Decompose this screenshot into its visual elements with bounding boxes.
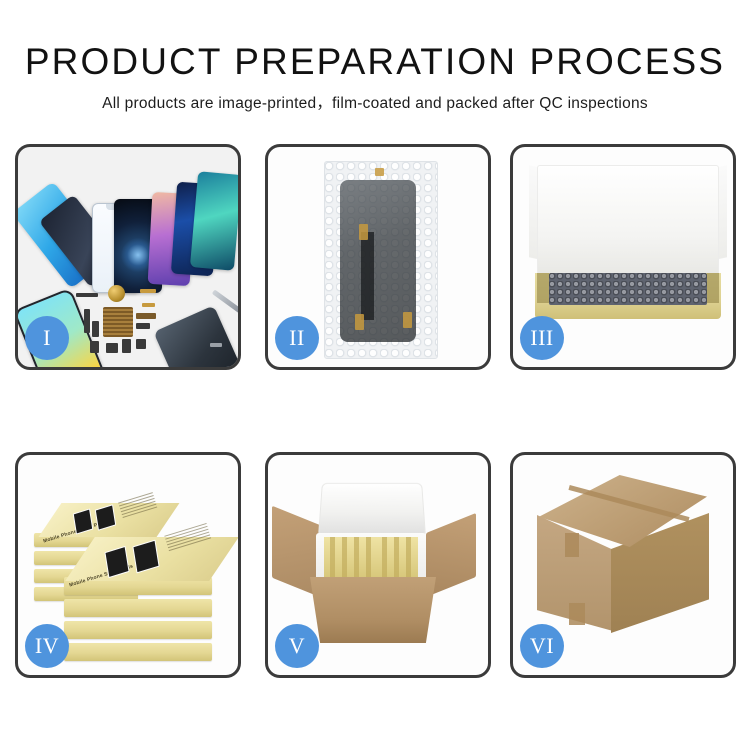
- step-badge-5: V: [275, 624, 319, 668]
- sensor-module: [136, 323, 150, 329]
- step-badge-4: IV: [25, 624, 69, 668]
- tweezers-tool: [210, 343, 222, 347]
- process-step-panel-2[interactable]: II: [265, 144, 491, 370]
- vibrator-motor: [106, 343, 118, 353]
- speaker-component: [108, 285, 125, 302]
- phone-back-housing: [153, 305, 238, 367]
- box-tab-right: [707, 273, 719, 303]
- flex-cable-left: [84, 309, 90, 333]
- box-stack: Mobile Phone Spare Parts Mobile Phone Sp…: [28, 481, 238, 651]
- process-step-panel-4[interactable]: Mobile Phone Spare Parts Mobile Phone Sp…: [15, 452, 241, 678]
- gold-connector: [142, 303, 155, 307]
- gold-connector-bottom-right: [403, 312, 412, 328]
- gold-connector-bottom-left: [355, 314, 364, 330]
- process-step-panel-1[interactable]: I: [15, 144, 241, 370]
- process-step-panel-6[interactable]: VI: [510, 452, 736, 678]
- tape-tab: [375, 168, 384, 176]
- yellow-boxes-inside: [324, 537, 418, 577]
- bubble-wrap-bag: [324, 161, 438, 359]
- step-badge-6: VI: [520, 624, 564, 668]
- gold-connector-top: [359, 224, 368, 240]
- charging-port: [122, 339, 131, 353]
- bubble-wrapped-contents: [549, 273, 707, 305]
- flex-cable-inside: [361, 232, 374, 320]
- process-step-panel-3[interactable]: III: [510, 144, 736, 370]
- screw-pack: [136, 339, 146, 349]
- stack-box-fr-2: [64, 599, 212, 617]
- step-badge-3: III: [520, 316, 564, 360]
- logic-board-component: [103, 307, 133, 337]
- small-bracket: [92, 321, 99, 337]
- carton-tape-lower: [569, 603, 585, 625]
- process-step-panel-5[interactable]: V: [265, 452, 491, 678]
- box-tab-left: [537, 273, 549, 303]
- step-badge-1: I: [25, 316, 69, 360]
- stack-box-fr-4: [64, 643, 212, 661]
- carton-body: [310, 577, 436, 643]
- sim-tray: [90, 341, 99, 353]
- gold-flex-strip: [140, 289, 156, 293]
- white-foam-lid: [537, 165, 719, 283]
- process-step-grid: I II III: [0, 0, 750, 750]
- foam-cooler-lid: [318, 483, 426, 537]
- carton-tape-upper: [565, 533, 579, 557]
- stack-box-fr-3: [64, 621, 212, 639]
- earpiece-mesh: [76, 293, 98, 297]
- camera-flex: [136, 313, 156, 319]
- teal-gradient-phone: [190, 171, 238, 270]
- step-badge-2: II: [275, 316, 319, 360]
